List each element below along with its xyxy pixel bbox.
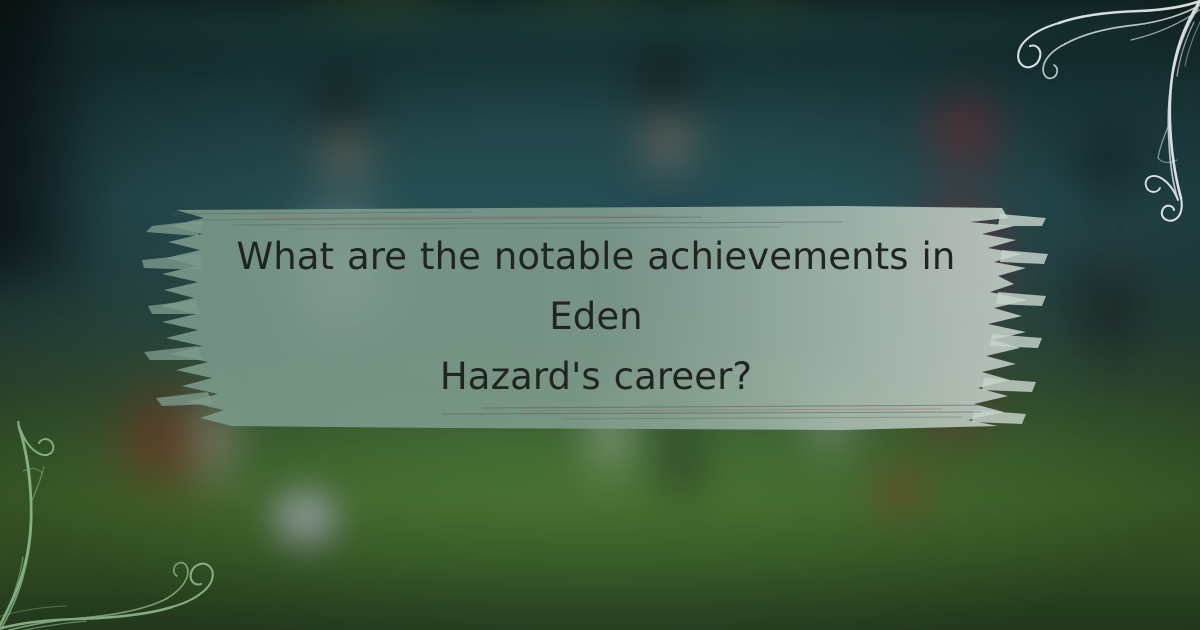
headline-line-2: Hazard's career? — [202, 347, 990, 407]
question-card: What are the notable achievements in Ede… — [0, 0, 1200, 630]
headline-banner: What are the notable achievements in Ede… — [142, 196, 1050, 438]
page-title: What are the notable achievements in Ede… — [202, 227, 990, 407]
headline-line-1: What are the notable achievements in Ede… — [202, 227, 990, 347]
